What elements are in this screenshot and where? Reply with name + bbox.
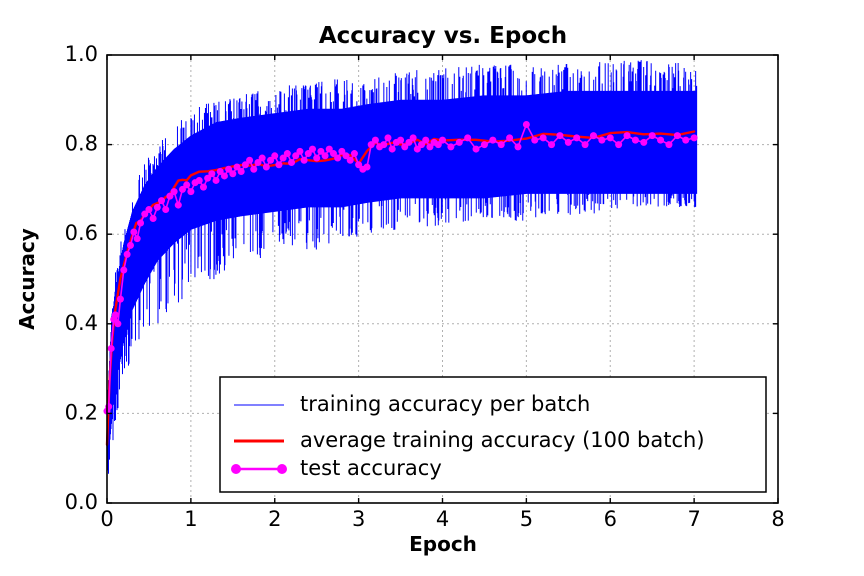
- x-tick-label: 1: [184, 507, 197, 531]
- y-axis-label: Accuracy: [15, 228, 39, 330]
- chart-legend[interactable]: training accuracy per batchaverage train…: [220, 377, 766, 492]
- x-tick-label: 6: [604, 507, 617, 531]
- y-tick-label: 1.0: [65, 42, 98, 66]
- x-tick-label: 2: [268, 507, 281, 531]
- x-tick-label: 0: [100, 507, 113, 531]
- x-tick-label: 8: [771, 507, 784, 531]
- chart-figure: 0.00.20.40.60.81.0012345678 Accuracy vs.…: [0, 0, 864, 576]
- legend-item-2[interactable]: average training accuracy (100 batch): [234, 428, 705, 452]
- x-tick-label: 5: [520, 507, 533, 531]
- legend-label: average training accuracy (100 batch): [300, 428, 705, 452]
- chart-title: Accuracy vs. Epoch: [319, 23, 567, 49]
- x-tick-label: 4: [436, 507, 449, 531]
- x-axis-label: Epoch: [409, 532, 477, 556]
- y-tick-label: 0.2: [65, 400, 98, 424]
- accuracy-vs-epoch-chart: 0.00.20.40.60.81.0012345678 Accuracy vs.…: [0, 0, 864, 576]
- y-tick-label: 0.8: [65, 132, 98, 156]
- legend-label: test accuracy: [300, 456, 442, 480]
- x-tick-label: 7: [687, 507, 700, 531]
- legend-label: training accuracy per batch: [300, 392, 590, 416]
- x-tick-label: 3: [352, 507, 365, 531]
- y-tick-label: 0.4: [65, 311, 98, 335]
- y-tick-label: 0.0: [65, 490, 98, 514]
- y-tick-label: 0.6: [65, 221, 98, 245]
